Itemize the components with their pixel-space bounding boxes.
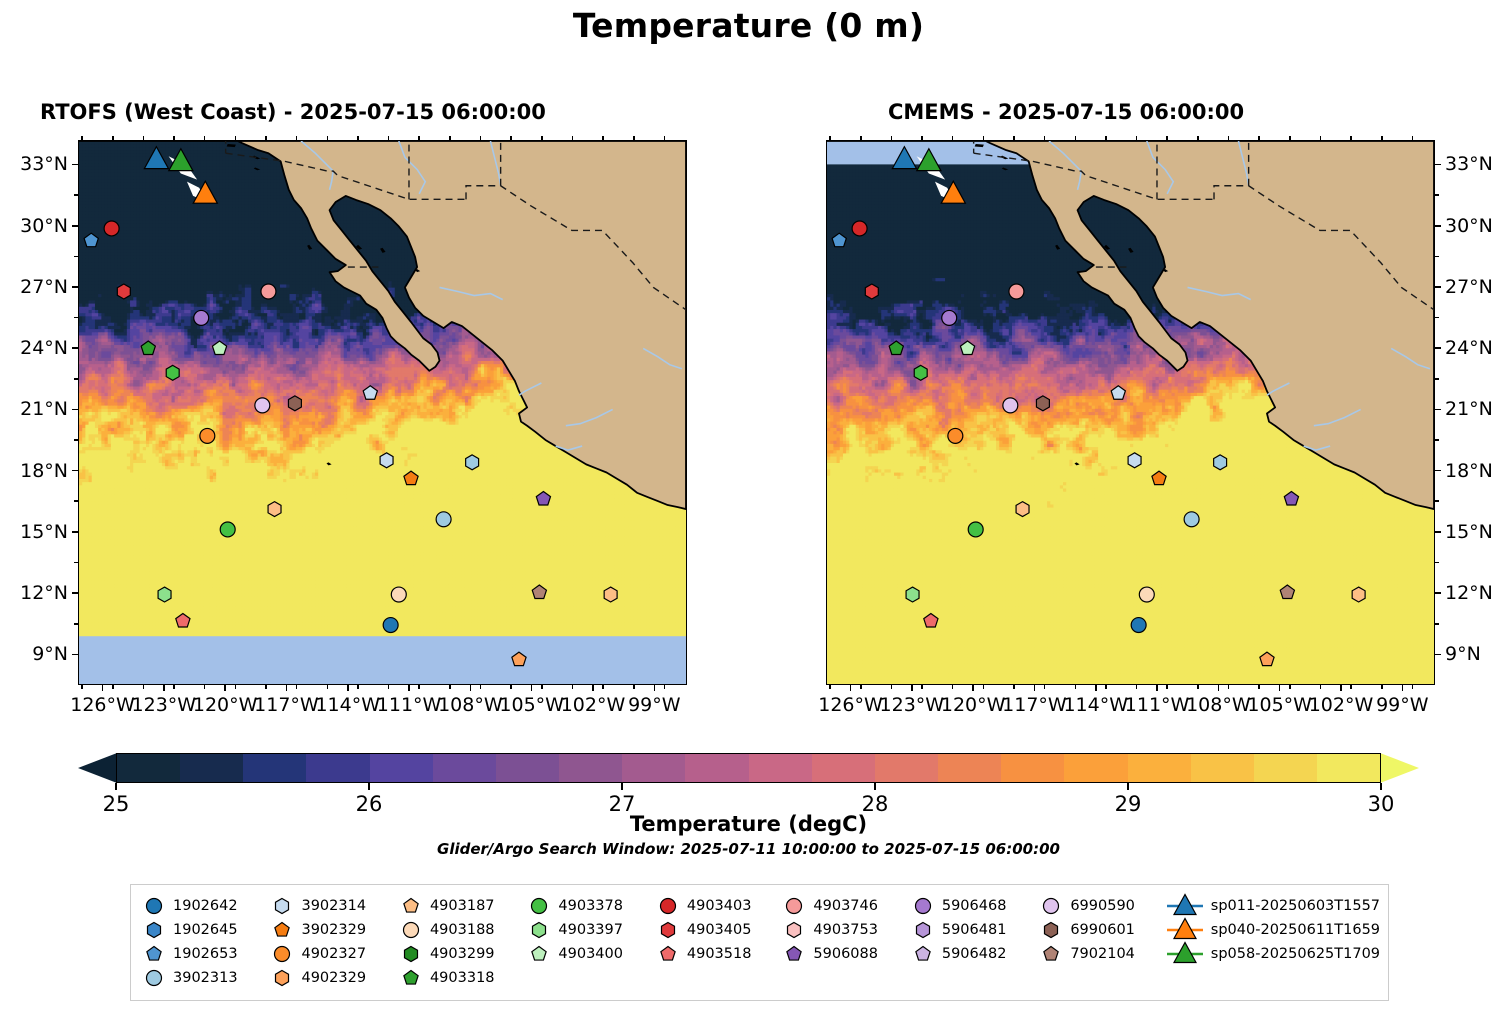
legend-item-label: 4903746 xyxy=(809,898,878,914)
lon-tick-minor xyxy=(480,685,482,689)
colorbar-band xyxy=(1254,754,1317,782)
legend-item[interactable]: 4903299 xyxy=(396,942,524,966)
lon-tick-minor xyxy=(921,136,923,140)
nodata-band-bottom xyxy=(79,636,686,684)
legend-marker-shape xyxy=(661,947,675,961)
legend-item-label: 4903518 xyxy=(683,946,752,962)
lat-tick-minor xyxy=(1435,378,1439,380)
legend-item[interactable]: 3902314 xyxy=(267,894,395,918)
legend-marker-shape xyxy=(532,947,546,961)
legend-item-label: 4903403 xyxy=(683,898,752,914)
legend-item[interactable]: 3902329 xyxy=(267,918,395,942)
lon-tick-label: 114°W xyxy=(315,694,380,716)
lon-tick-minor xyxy=(235,685,237,689)
lon-tick-minor xyxy=(891,136,893,140)
argo-float-marker xyxy=(1036,396,1049,411)
legend-item[interactable]: 5906482 xyxy=(908,942,1036,966)
lon-tick-minor xyxy=(235,136,237,140)
lon-tick-label: 102°W xyxy=(561,694,626,716)
legend-item[interactable]: 5906088 xyxy=(779,942,907,966)
legend-item-label: 5906482 xyxy=(938,946,1007,962)
lon-tick xyxy=(286,685,288,691)
legend-column: 490337849033974903400 xyxy=(524,894,652,990)
lat-tick-label: 24°N xyxy=(0,337,68,359)
colorbar-band xyxy=(1191,754,1254,782)
legend-column: 490374649037535906088 xyxy=(779,894,907,990)
lon-tick-minor xyxy=(829,136,831,140)
legend-marker-icon xyxy=(653,895,683,917)
legend-marker-shape xyxy=(147,971,162,986)
legend-item[interactable]: 3902313 xyxy=(139,966,267,990)
lon-tick-minor xyxy=(541,136,543,140)
legend-item[interactable]: 1902645 xyxy=(139,918,267,942)
legend-item-glider[interactable]: sp011-20250603T1557 xyxy=(1165,894,1380,918)
lon-tick-minor xyxy=(357,136,359,140)
argo-float-marker xyxy=(380,453,393,468)
legend-item-label: 4903188 xyxy=(426,922,495,938)
lat-tick-label: 18°N xyxy=(0,460,68,482)
legend-item[interactable]: 4902327 xyxy=(267,942,395,966)
lon-tick-minor xyxy=(664,136,666,140)
legend-marker-icon xyxy=(779,943,809,965)
argo-float-marker xyxy=(906,587,919,602)
legend-marker-icon xyxy=(396,943,426,965)
lon-tick-minor xyxy=(204,136,206,140)
lon-tick-label: 99°W xyxy=(1376,694,1428,716)
page-title: Temperature (0 m) xyxy=(0,6,1497,45)
argo-float-marker xyxy=(942,310,957,325)
lon-tick xyxy=(1034,685,1036,691)
lon-tick-minor xyxy=(541,685,543,689)
lat-tick-minor xyxy=(74,439,78,441)
colorbar-band xyxy=(938,754,1001,782)
lat-tick-label: 33°N xyxy=(0,153,68,175)
colorbar-band xyxy=(812,754,875,782)
legend-item[interactable]: 4902329 xyxy=(267,966,395,990)
legend-glider-icon xyxy=(1165,943,1205,965)
lon-tick-minor xyxy=(1044,136,1046,140)
lon-tick xyxy=(408,685,410,691)
legend-item-label: 4903187 xyxy=(426,898,495,914)
legend-marker-icon xyxy=(139,943,169,965)
legend-marker-shape xyxy=(276,971,289,986)
lon-tick-label: 108°W xyxy=(438,694,503,716)
lon-tick-minor xyxy=(173,685,175,689)
lat-tick xyxy=(72,164,78,166)
lon-tick-minor xyxy=(357,685,359,689)
lat-tick xyxy=(72,409,78,411)
lon-tick-label: 102°W xyxy=(1309,694,1374,716)
lat-tick-minor xyxy=(74,194,78,196)
lon-tick-minor xyxy=(860,685,862,689)
argo-float-marker xyxy=(288,396,301,411)
lon-tick-minor xyxy=(1105,685,1107,689)
lon-tick-label: 111°W xyxy=(377,694,442,716)
lon-tick-minor xyxy=(829,685,831,689)
argo-float-marker xyxy=(852,221,867,236)
lat-tick-label: 21°N xyxy=(0,398,68,420)
legend-item-label: 5906481 xyxy=(938,922,1007,938)
lat-tick xyxy=(1435,286,1441,288)
legend-marker-shape xyxy=(404,899,418,913)
legend-marker-icon xyxy=(396,919,426,941)
lon-tick-minor xyxy=(1013,136,1015,140)
lon-tick-label: 123°W xyxy=(132,694,197,716)
legend-marker-icon xyxy=(908,919,938,941)
lat-tick-minor xyxy=(1435,500,1439,502)
legend-item[interactable]: 4903403 xyxy=(653,894,780,918)
legend-item[interactable]: 7902104 xyxy=(1036,942,1164,966)
colorbar-band xyxy=(749,754,812,782)
argo-float-marker xyxy=(391,587,406,602)
legend-item-label: 1902645 xyxy=(169,922,238,938)
colorbar-band xyxy=(1001,754,1064,782)
legend-glider-icon xyxy=(1165,919,1205,941)
legend-item[interactable]: 4903397 xyxy=(524,918,652,942)
argo-float-marker xyxy=(914,365,927,380)
lat-tick xyxy=(72,531,78,533)
legend-item-glider[interactable]: sp040-20250611T1659 xyxy=(1165,918,1380,942)
legend-item[interactable]: 4903746 xyxy=(779,894,907,918)
legend-marker-icon xyxy=(139,967,169,989)
lon-tick xyxy=(1279,685,1281,691)
legend-marker-icon xyxy=(267,967,297,989)
lon-tick xyxy=(224,685,226,691)
lat-tick xyxy=(1435,409,1441,411)
lon-tick xyxy=(654,685,656,691)
legend-item-label: 4903753 xyxy=(809,922,878,938)
argo-float-marker xyxy=(466,455,479,470)
argo-float-marker xyxy=(1139,587,1154,602)
lon-tick-label: 105°W xyxy=(499,694,564,716)
colorbar-band xyxy=(685,754,748,782)
lon-tick-minor xyxy=(480,136,482,140)
lat-tick-label: 18°N xyxy=(1445,460,1493,482)
lon-tick-minor xyxy=(1320,685,1322,689)
legend-item[interactable]: 4903188 xyxy=(396,918,524,942)
colorbar-band xyxy=(117,754,180,782)
colorbar-tick xyxy=(368,783,370,790)
lon-tick-minor xyxy=(296,685,298,689)
lon-tick-minor xyxy=(1166,136,1168,140)
lat-tick-minor xyxy=(1435,317,1439,319)
lat-tick xyxy=(72,592,78,594)
lon-tick-minor xyxy=(1197,136,1199,140)
lon-tick-label: 117°W xyxy=(254,694,319,716)
legend-column: 4903187490318849032994903318 xyxy=(396,894,524,990)
legend-column-gliders: sp011-20250603T1557sp040-20250611T1659sp… xyxy=(1165,894,1380,990)
legend-marker-icon xyxy=(524,943,554,965)
lat-tick xyxy=(1435,592,1441,594)
lon-tick xyxy=(531,685,533,691)
legend-column: 699059069906017902104 xyxy=(1036,894,1164,990)
argo-float-marker xyxy=(1131,618,1146,633)
lon-tick-minor xyxy=(1075,685,1077,689)
lon-tick-minor xyxy=(1228,136,1230,140)
argo-float-marker xyxy=(117,284,130,299)
legend-marker-shape xyxy=(404,947,417,962)
legend-item[interactable]: 6990590 xyxy=(1036,894,1164,918)
lon-tick-minor xyxy=(1136,136,1138,140)
lat-tick-minor xyxy=(74,562,78,564)
lon-tick xyxy=(163,685,165,691)
lon-tick-minor xyxy=(1258,136,1260,140)
legend-item-label: 3902314 xyxy=(297,898,366,914)
legend-column: 590646859064815906482 xyxy=(908,894,1036,990)
legend-marker-shape xyxy=(147,947,161,961)
lon-tick-minor xyxy=(388,136,390,140)
argo-float-marker xyxy=(194,310,209,325)
colorbar-band xyxy=(243,754,306,782)
lon-tick-minor xyxy=(1166,685,1168,689)
argo-float-marker xyxy=(968,522,983,537)
legend-glider-label: sp011-20250603T1557 xyxy=(1205,898,1380,914)
legend-marker-shape xyxy=(147,899,162,914)
lon-tick-minor xyxy=(602,136,604,140)
legend-item[interactable]: 5906481 xyxy=(908,918,1036,942)
legend-marker-shape xyxy=(1044,947,1058,961)
argo-float-marker xyxy=(268,502,281,517)
legend-marker-icon xyxy=(524,895,554,917)
argo-float-marker xyxy=(948,428,963,443)
lat-tick-label: 15°N xyxy=(0,521,68,543)
lon-tick xyxy=(470,685,472,691)
lat-tick xyxy=(1435,164,1441,166)
legend-item-label: 6990590 xyxy=(1066,898,1135,914)
lon-tick-label: 117°W xyxy=(1002,694,1067,716)
colorbar-band xyxy=(370,754,433,782)
legend-marker-icon xyxy=(267,943,297,965)
lon-tick-minor xyxy=(1136,685,1138,689)
argo-float-marker xyxy=(255,398,270,413)
legend-item[interactable]: 4903187 xyxy=(396,894,524,918)
lat-tick-label: 33°N xyxy=(1445,153,1493,175)
lon-tick-minor xyxy=(1381,685,1383,689)
colorbar-tick xyxy=(874,783,876,790)
argo-float-marker xyxy=(104,221,119,236)
colorbar-band xyxy=(1128,754,1191,782)
lat-tick xyxy=(1435,347,1441,349)
legend-marker-shape xyxy=(275,923,289,937)
map-render-rtofs xyxy=(79,141,686,684)
legend-item-glider[interactable]: sp058-20250625T1709 xyxy=(1165,942,1380,966)
lon-tick-label: 108°W xyxy=(1186,694,1251,716)
lon-tick-minor xyxy=(952,136,954,140)
legend-marker-icon xyxy=(396,967,426,989)
legend-marker-icon xyxy=(653,919,683,941)
lon-tick-label: 114°W xyxy=(1063,694,1128,716)
lon-tick-minor xyxy=(112,685,114,689)
lon-tick-minor xyxy=(1289,685,1291,689)
lon-tick-minor xyxy=(81,136,83,140)
gulf-water xyxy=(686,277,687,369)
legend-marker-icon xyxy=(908,943,938,965)
colorbar-band xyxy=(559,754,622,782)
legend-item-label: 4902327 xyxy=(297,946,366,962)
lon-tick xyxy=(1340,685,1342,691)
legend-column: 3902314390232949023274902329 xyxy=(267,894,395,990)
lon-tick-minor xyxy=(204,685,206,689)
argo-float-marker xyxy=(1184,512,1199,527)
legend-item-label: 4903400 xyxy=(554,946,623,962)
lon-tick-minor xyxy=(1350,685,1352,689)
panel-title-cmems: CMEMS - 2025-07-15 06:00:00 xyxy=(888,100,1244,124)
legend-marker-icon xyxy=(779,895,809,917)
legend: 1902642190264519026533902313390231439023… xyxy=(130,884,1389,1001)
lon-tick-minor xyxy=(143,136,145,140)
legend-marker-icon xyxy=(1036,895,1066,917)
lat-tick xyxy=(72,225,78,227)
legend-marker-icon xyxy=(653,943,683,965)
legend-item[interactable]: 1902642 xyxy=(139,894,267,918)
lon-tick-minor xyxy=(1258,685,1260,689)
lat-tick xyxy=(72,470,78,472)
colorbar-band xyxy=(1317,754,1380,782)
argo-float-marker xyxy=(1016,502,1029,517)
legend-item-label: 1902642 xyxy=(169,898,238,914)
argo-float-marker xyxy=(1214,455,1227,470)
legend-marker-icon xyxy=(139,895,169,917)
lon-tick-minor xyxy=(1228,685,1230,689)
legend-marker-icon xyxy=(908,895,938,917)
map-panel-rtofs[interactable] xyxy=(78,140,687,685)
legend-marker-shape xyxy=(787,947,801,961)
legend-marker-shape xyxy=(276,899,289,914)
legend-marker-shape xyxy=(660,899,675,914)
lat-tick-minor xyxy=(1435,194,1439,196)
colorbar-tick xyxy=(115,783,117,790)
lat-tick-minor xyxy=(1435,562,1439,564)
legend-glider-triangle xyxy=(1174,943,1196,963)
argo-float-marker xyxy=(1003,398,1018,413)
legend-item-label: 4902329 xyxy=(297,970,366,986)
legend-item[interactable]: 4903753 xyxy=(779,918,907,942)
argo-float-marker xyxy=(158,587,171,602)
lon-tick-minor xyxy=(983,685,985,689)
legend-item[interactable]: 4903378 xyxy=(524,894,652,918)
legend-marker-shape xyxy=(1044,899,1059,914)
lat-tick-label: 9°N xyxy=(1445,643,1481,665)
legend-item-label: 1902653 xyxy=(169,946,238,962)
lat-tick xyxy=(72,654,78,656)
legend-marker-shape xyxy=(916,923,929,938)
legend-item[interactable]: 5906468 xyxy=(908,894,1036,918)
legend-column: 1902642190264519026533902313 xyxy=(139,894,267,990)
legend-marker-icon xyxy=(267,895,297,917)
lon-tick-label: 111°W xyxy=(1125,694,1190,716)
lon-tick-minor xyxy=(1350,136,1352,140)
lat-tick xyxy=(1435,654,1441,656)
legend-marker-shape xyxy=(532,899,547,914)
legend-glider-label: sp040-20250611T1659 xyxy=(1205,922,1380,938)
argo-float-marker xyxy=(436,512,451,527)
colorbar-label: Temperature (degC) xyxy=(0,812,1497,836)
legend-marker-shape xyxy=(915,899,930,914)
lon-tick xyxy=(347,685,349,691)
argo-float-marker xyxy=(604,587,617,602)
lon-tick-minor xyxy=(1381,136,1383,140)
lon-tick-minor xyxy=(418,136,420,140)
legend-item[interactable]: 4903518 xyxy=(653,942,780,966)
colorbar-tick xyxy=(1127,783,1129,790)
colorbar-tick xyxy=(1380,783,1382,790)
legend-item[interactable]: 1902653 xyxy=(139,942,267,966)
gulf-water xyxy=(1434,277,1435,369)
legend-item[interactable]: 4903405 xyxy=(653,918,780,942)
lon-tick-minor xyxy=(173,136,175,140)
legend-item-label: 4903405 xyxy=(683,922,752,938)
lat-tick-minor xyxy=(1435,256,1439,258)
lon-tick-minor xyxy=(664,685,666,689)
lon-tick-label: 126°W xyxy=(70,694,135,716)
lon-tick xyxy=(1095,685,1097,691)
argo-float-marker xyxy=(383,618,398,633)
legend-item-label: 4903397 xyxy=(554,922,623,938)
panel-title-rtofs: RTOFS (West Coast) - 2025-07-15 06:00:00 xyxy=(40,100,546,124)
lat-tick xyxy=(1435,470,1441,472)
lon-tick xyxy=(911,685,913,691)
lon-tick-minor xyxy=(143,685,145,689)
map-render-cmems xyxy=(827,141,1434,684)
legend-item[interactable]: 6990601 xyxy=(1036,918,1164,942)
colorbar-band xyxy=(306,754,369,782)
argo-float-marker xyxy=(1352,587,1365,602)
map-panel-cmems[interactable] xyxy=(826,140,1435,685)
argo-float-marker xyxy=(200,428,215,443)
lat-tick-label: 15°N xyxy=(1445,521,1493,543)
lon-tick-minor xyxy=(81,685,83,689)
lat-tick xyxy=(72,286,78,288)
lon-tick xyxy=(592,685,594,691)
lon-tick xyxy=(850,685,852,691)
legend-item[interactable]: 4903318 xyxy=(396,966,524,990)
lon-tick-minor xyxy=(1105,136,1107,140)
colorbar-band xyxy=(622,754,685,782)
lon-tick-minor xyxy=(510,685,512,689)
colorbar-tick xyxy=(621,783,623,790)
lat-tick-label: 12°N xyxy=(1445,582,1493,604)
legend-item-label: 4903318 xyxy=(426,970,495,986)
argo-float-marker xyxy=(261,284,276,299)
lon-tick-minor xyxy=(327,136,329,140)
legend-marker-shape xyxy=(661,923,674,938)
lat-tick xyxy=(1435,531,1441,533)
legend-marker-shape xyxy=(404,971,418,985)
lon-tick-minor xyxy=(388,685,390,689)
lat-tick-minor xyxy=(74,623,78,625)
lat-tick-minor xyxy=(74,500,78,502)
legend-item-label: 5906088 xyxy=(809,946,878,962)
legend-marker-icon xyxy=(1036,943,1066,965)
lon-tick-minor xyxy=(602,685,604,689)
lon-tick-minor xyxy=(921,685,923,689)
legend-marker-icon xyxy=(139,919,169,941)
lon-tick xyxy=(1156,685,1158,691)
lon-tick xyxy=(1218,685,1220,691)
lon-tick-minor xyxy=(983,136,985,140)
lat-tick-label: 27°N xyxy=(0,276,68,298)
lon-tick xyxy=(972,685,974,691)
legend-marker-icon xyxy=(524,919,554,941)
colorbar-band xyxy=(180,754,243,782)
lat-tick-minor xyxy=(1435,623,1439,625)
argo-float-marker xyxy=(865,284,878,299)
lon-tick-minor xyxy=(572,136,574,140)
colorbar-band xyxy=(875,754,938,782)
lat-tick-minor xyxy=(74,317,78,319)
legend-marker-shape xyxy=(788,923,801,938)
legend-item[interactable]: 4903400 xyxy=(524,942,652,966)
